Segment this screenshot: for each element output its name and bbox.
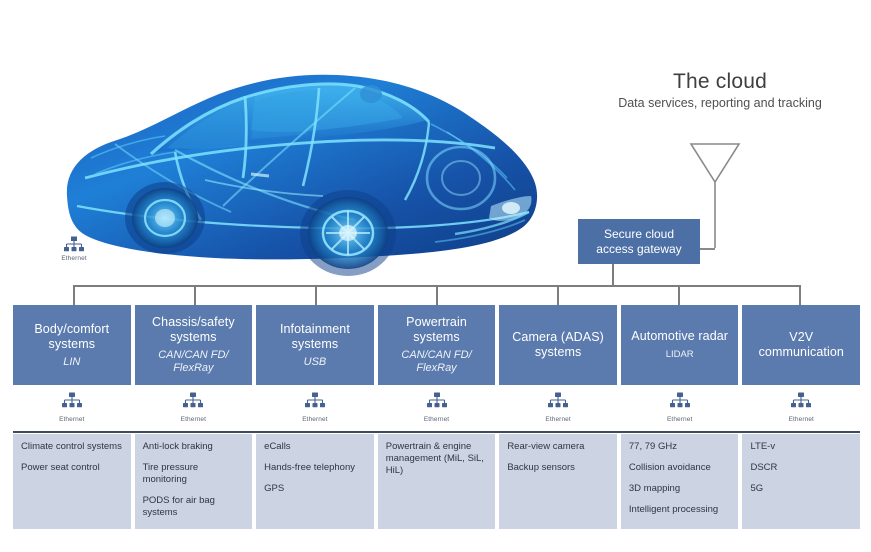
automotive-network-architecture-diagram: Ethernet The cloud Data services, report…: [0, 0, 871, 552]
ethernet-label: Ethernet: [424, 416, 449, 423]
cloud-title: The cloud: [612, 70, 828, 94]
ethernet-label: Ethernet: [181, 416, 206, 423]
category-title: Automotive radar: [631, 329, 728, 344]
category-title: Powertrain systems: [383, 315, 491, 345]
gateway-bus-connector: [612, 264, 614, 286]
detail-item: Backup sensors: [507, 462, 609, 474]
xray-car-illustration: [55, 28, 545, 283]
category-title: Camera (ADAS) systems: [504, 330, 612, 360]
bus-drop-5: [557, 285, 559, 305]
category-title: Body/comfort systems: [18, 322, 126, 352]
category-protocol: CAN/CAN FD/ FlexRay: [383, 349, 491, 375]
category-row: Body/comfort systemsLINChassis/safety sy…: [13, 305, 860, 385]
detail-item: Collision avoidance: [629, 462, 731, 474]
cloud-label-block: The cloud Data services, reporting and t…: [612, 70, 828, 111]
category-title: V2V communication: [747, 330, 855, 360]
bus-drop-2: [194, 285, 196, 305]
ethernet-label: Ethernet: [667, 416, 692, 423]
detail-item: 3D mapping: [629, 483, 731, 495]
category-box-automotive-radar[interactable]: Automotive radarLIDAR: [621, 305, 739, 385]
detail-item: 77, 79 GHz: [629, 441, 731, 453]
category-title: Chassis/safety systems: [140, 315, 248, 345]
ethernet-network-icon: [669, 392, 691, 415]
detail-box-chassis-safety-systems: Anti-lock brakingTire pressure monitorin…: [135, 434, 253, 529]
bus-drop-1: [73, 285, 75, 305]
ethernet-badge-chassis-safety-systems: Ethernet: [135, 390, 253, 430]
gateway-label: Secure cloud access gateway: [584, 227, 694, 257]
ethernet-icon-row: EthernetEthernetEthernetEthernetEthernet…: [13, 390, 860, 430]
secure-cloud-access-gateway-box[interactable]: Secure cloud access gateway: [578, 219, 700, 264]
category-protocol: USB: [304, 356, 327, 369]
ethernet-badge-car: Ethernet: [52, 236, 96, 262]
category-box-body-comfort-systems[interactable]: Body/comfort systemsLIN: [13, 305, 131, 385]
bus-drop-4: [436, 285, 438, 305]
ethernet-network-icon: [304, 392, 326, 415]
detail-item: Climate control systems: [21, 441, 123, 453]
ethernet-label: Ethernet: [59, 416, 84, 423]
ethernet-network-icon: [426, 392, 448, 415]
detail-item: eCalls: [264, 441, 366, 453]
detail-item: Tire pressure monitoring: [143, 462, 245, 486]
bus-drop-3: [315, 285, 317, 305]
detail-item: Anti-lock braking: [143, 441, 245, 453]
ethernet-label: Ethernet: [789, 416, 814, 423]
detail-item: Hands-free telephony: [264, 462, 366, 474]
ethernet-label: Ethernet: [545, 416, 570, 423]
detail-item: 5G: [750, 483, 852, 495]
detail-item: Intelligent processing: [629, 504, 731, 516]
ethernet-badge-powertrain-systems: Ethernet: [378, 390, 496, 430]
ethernet-badge-automotive-radar: Ethernet: [621, 390, 739, 430]
detail-box-infotainment-systems: eCallsHands-free telephonyGPS: [256, 434, 374, 529]
detail-item: GPS: [264, 483, 366, 495]
ethernet-network-icon: [61, 392, 83, 415]
ethernet-network-icon: [52, 236, 96, 254]
detail-box-body-comfort-systems: Climate control systemsPower seat contro…: [13, 434, 131, 529]
detail-item: Rear-view camera: [507, 441, 609, 453]
bus-drop-6: [678, 285, 680, 305]
ethernet-network-icon: [790, 392, 812, 415]
detail-row: Climate control systemsPower seat contro…: [13, 434, 860, 529]
ethernet-badge-infotainment-systems: Ethernet: [256, 390, 374, 430]
detail-box-powertrain-systems: Powertrain & engine management (MiL, SiL…: [378, 434, 496, 529]
detail-item: DSCR: [750, 462, 852, 474]
ethernet-network-icon: [182, 392, 204, 415]
ethernet-badge-v2v-communication: Ethernet: [742, 390, 860, 430]
category-protocol: LIN: [63, 356, 80, 369]
detail-item: Power seat control: [21, 462, 123, 474]
category-protocol: CAN/CAN FD/ FlexRay: [140, 349, 248, 375]
category-box-infotainment-systems[interactable]: Infotainment systemsUSB: [256, 305, 374, 385]
category-box-camera-adas-systems[interactable]: Camera (ADAS) systems: [499, 305, 617, 385]
ethernet-label: Ethernet: [302, 416, 327, 423]
category-protocol: LIDAR: [666, 348, 694, 361]
ethernet-badge-camera-adas-systems: Ethernet: [499, 390, 617, 430]
detail-item: LTE-v: [750, 441, 852, 453]
category-box-chassis-safety-systems[interactable]: Chassis/safety systemsCAN/CAN FD/ FlexRa…: [135, 305, 253, 385]
ethernet-network-icon: [547, 392, 569, 415]
detail-item: PODS for air bag systems: [143, 495, 245, 519]
detail-box-camera-adas-systems: Rear-view cameraBackup sensors: [499, 434, 617, 529]
detail-section-divider: [13, 431, 860, 433]
ethernet-label: Ethernet: [52, 255, 96, 262]
ethernet-badge-body-comfort-systems: Ethernet: [13, 390, 131, 430]
category-box-v2v-communication[interactable]: V2V communication: [742, 305, 860, 385]
gateway-antenna-connector: [700, 248, 715, 250]
category-title: Infotainment systems: [261, 322, 369, 352]
bus-drop-7: [799, 285, 801, 305]
cloud-subtitle: Data services, reporting and tracking: [612, 96, 828, 111]
detail-item: Powertrain & engine management (MiL, SiL…: [386, 441, 488, 477]
detail-box-v2v-communication: LTE-vDSCR5G: [742, 434, 860, 529]
detail-box-automotive-radar: 77, 79 GHzCollision avoidance3D mappingI…: [621, 434, 739, 529]
category-box-powertrain-systems[interactable]: Powertrain systemsCAN/CAN FD/ FlexRay: [378, 305, 496, 385]
